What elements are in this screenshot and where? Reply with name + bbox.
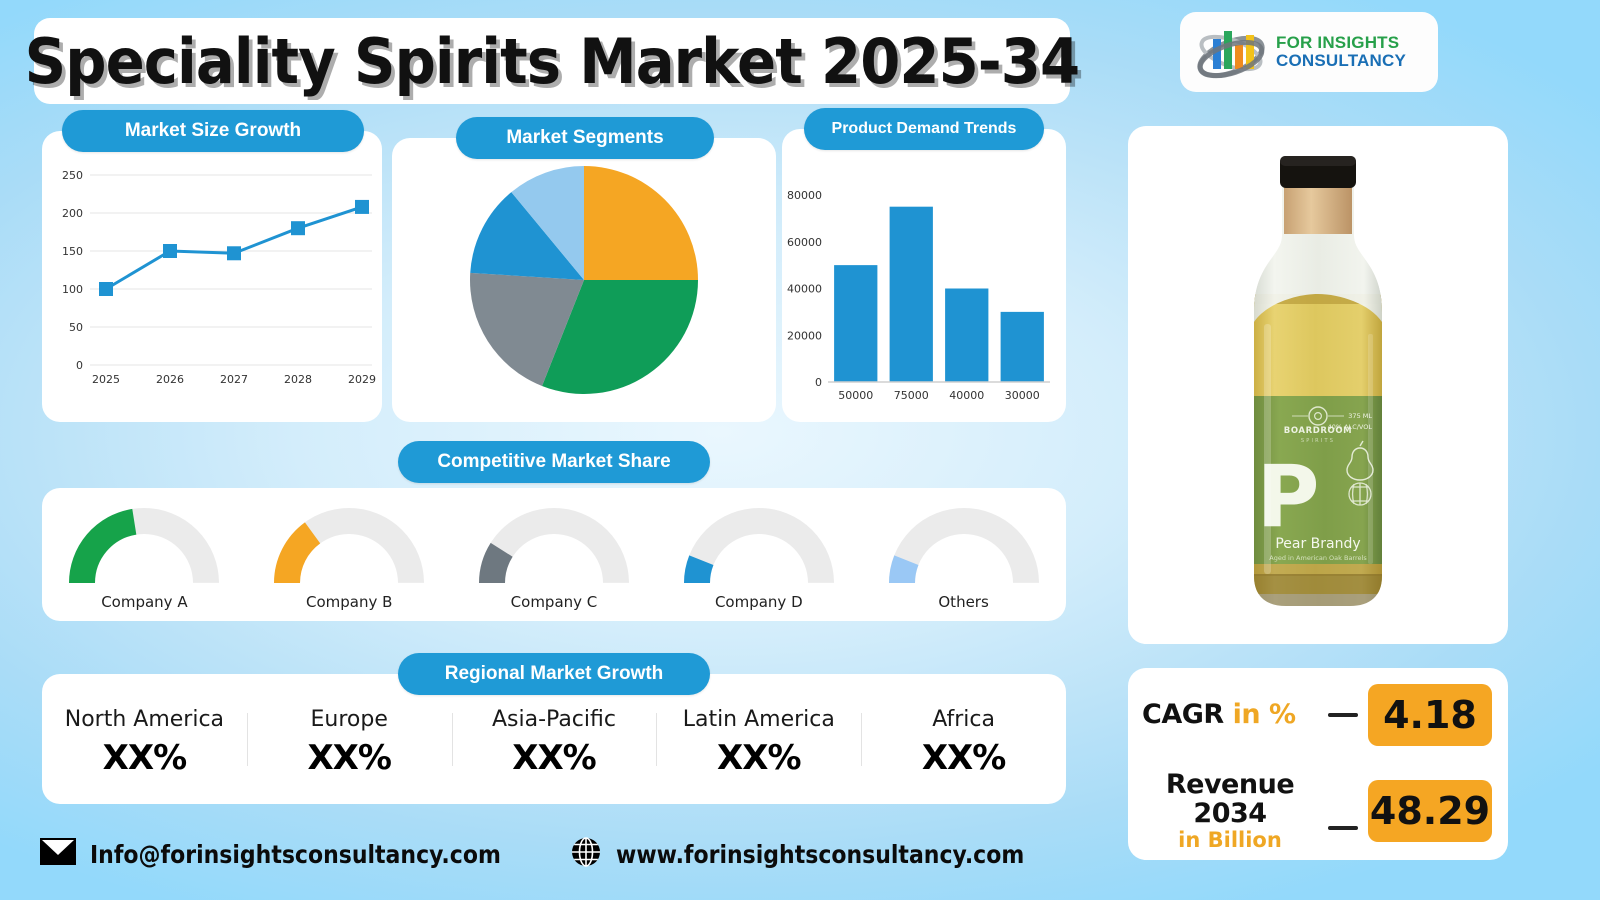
- website-text: www.forinsightsconsultancy.com: [616, 840, 1024, 869]
- svg-text:80000: 80000: [787, 189, 822, 202]
- envelope-icon: [40, 838, 76, 870]
- pie-chart-market-segments: [468, 164, 700, 396]
- company-logo: FOR INSIGHTS CONSULTANCY: [1180, 12, 1438, 92]
- globe-icon: [570, 836, 602, 873]
- svg-text:40% ALC/VOL: 40% ALC/VOL: [1328, 423, 1373, 431]
- gauge-arc: [880, 499, 1048, 591]
- svg-text:30000: 30000: [1005, 389, 1040, 402]
- card-competitive-market-share: Company ACompany BCompany CCompany DOthe…: [42, 488, 1066, 621]
- svg-text:Pear Brandy: Pear Brandy: [1275, 536, 1360, 552]
- card-product-demand-trends: 020000400006000080000 500007500040000300…: [782, 129, 1066, 422]
- svg-text:250: 250: [62, 169, 83, 182]
- gauge-label: Company B: [306, 593, 392, 611]
- region-cell: AfricaXX%: [861, 701, 1066, 778]
- bar-chart-orbit-icon: [1194, 23, 1268, 81]
- gauge-label: Company C: [511, 593, 598, 611]
- email-text: Info@forinsightsconsultancy.com: [90, 840, 501, 869]
- card-kpis: CAGR in % 4.18 Revenue 2034 in Billion 4…: [1128, 668, 1508, 860]
- infographic-page: Speciality Spirits Market 2025-34 FOR IN…: [0, 0, 1600, 900]
- region-cell: North AmericaXX%: [42, 701, 247, 778]
- region-name: Asia-Pacific: [452, 707, 657, 732]
- badge-product-demand-trends: Product Demand Trends: [804, 108, 1044, 150]
- contact-website[interactable]: www.forinsightsconsultancy.com: [570, 836, 1080, 873]
- svg-text:2026: 2026: [156, 373, 184, 386]
- page-title: Speciality Spirits Market 2025-34: [25, 25, 1079, 98]
- svg-text:60000: 60000: [787, 236, 822, 249]
- card-market-segments: [392, 138, 776, 422]
- kpi-cagr: CAGR in % 4.18: [1128, 672, 1508, 758]
- region-value: XX%: [247, 738, 452, 778]
- svg-text:2027: 2027: [220, 373, 248, 386]
- bar-chart-product-demand: 020000400006000080000 500007500040000300…: [782, 169, 1066, 419]
- line-chart-market-size: 050100150200250 20252026202720282029: [42, 161, 382, 411]
- kpi-revenue-value: 48.29: [1368, 780, 1492, 842]
- svg-text:40000: 40000: [787, 283, 822, 296]
- svg-text:20000: 20000: [787, 329, 822, 342]
- region-value: XX%: [452, 738, 657, 778]
- gauge-label: Company A: [101, 593, 187, 611]
- badge-market-size-growth: Market Size Growth: [62, 110, 364, 152]
- kpi-revenue: Revenue 2034 in Billion 48.29: [1128, 768, 1508, 854]
- gauge-others: Others: [869, 499, 1059, 611]
- logo-wordmark: FOR INSIGHTS CONSULTANCY: [1276, 34, 1406, 70]
- kpi-revenue-title: Revenue 2034: [1142, 770, 1318, 828]
- gauge-company-b: Company B: [254, 499, 444, 611]
- svg-text:2028: 2028: [284, 373, 312, 386]
- kpi-cagr-accent: in %: [1224, 699, 1296, 730]
- svg-text:150: 150: [62, 245, 83, 258]
- region-cell: Asia-PacificXX%: [452, 701, 657, 778]
- gauge-company-c: Company C: [459, 499, 649, 611]
- gauge-arc: [60, 499, 228, 591]
- contact-bar: Info@forinsightsconsultancy.com www.fori…: [40, 828, 1080, 880]
- logo-line-2: CONSULTANCY: [1276, 52, 1406, 70]
- badge-regional-market-growth: Regional Market Growth: [398, 653, 710, 695]
- svg-text:2025: 2025: [92, 373, 120, 386]
- gauge-label: Company D: [715, 593, 803, 611]
- svg-text:75000: 75000: [894, 389, 929, 402]
- region-name: Latin America: [656, 707, 861, 732]
- kpi-cagr-value: 4.18: [1368, 684, 1492, 746]
- contact-email[interactable]: Info@forinsightsconsultancy.com: [40, 838, 570, 870]
- region-name: Africa: [861, 707, 1066, 732]
- kpi-revenue-label: Revenue 2034 in Billion: [1142, 770, 1318, 852]
- region-value: XX%: [861, 738, 1066, 778]
- card-market-size-growth: 050100150200250 20252026202720282029: [42, 131, 382, 422]
- svg-text:50000: 50000: [838, 389, 873, 402]
- region-value: XX%: [42, 738, 247, 778]
- gauge-arc: [675, 499, 843, 591]
- kpi-revenue-dash: [1328, 826, 1358, 830]
- svg-text:Aged in American Oak Barrels: Aged in American Oak Barrels: [1269, 554, 1367, 562]
- svg-text:50: 50: [69, 321, 83, 334]
- region-name: Europe: [247, 707, 452, 732]
- logo-line-1: FOR INSIGHTS: [1276, 34, 1406, 52]
- gauge-row: Company ACompany BCompany CCompany DOthe…: [42, 488, 1066, 621]
- badge-competitive-market-share: Competitive Market Share: [398, 441, 710, 483]
- gauge-label: Others: [938, 593, 988, 611]
- svg-text:40000: 40000: [949, 389, 984, 402]
- svg-text:100: 100: [62, 283, 83, 296]
- gauge-arc: [470, 499, 638, 591]
- gauge-company-a: Company A: [49, 499, 239, 611]
- svg-text:SPIRITS: SPIRITS: [1301, 438, 1335, 444]
- kpi-cagr-label: CAGR in %: [1142, 700, 1318, 729]
- pear-brandy-bottle-image: BOARDROOM SPIRITS 375 ML 40% ALC/VOL P P…: [1220, 144, 1416, 624]
- title-plate: Speciality Spirits Market 2025-34: [34, 18, 1070, 104]
- badge-market-segments: Market Segments: [456, 117, 714, 159]
- kpi-revenue-sub: in Billion: [1142, 828, 1318, 852]
- card-product-image: BOARDROOM SPIRITS 375 ML 40% ALC/VOL P P…: [1128, 126, 1508, 644]
- region-cell: EuropeXX%: [247, 701, 452, 778]
- kpi-cagr-dash: [1328, 713, 1358, 717]
- svg-text:0: 0: [815, 376, 822, 389]
- region-name: North America: [42, 707, 247, 732]
- svg-text:2029: 2029: [348, 373, 376, 386]
- svg-text:0: 0: [76, 359, 83, 372]
- gauge-arc: [265, 499, 433, 591]
- region-value: XX%: [656, 738, 861, 778]
- region-cell: Latin AmericaXX%: [656, 701, 861, 778]
- svg-text:200: 200: [62, 207, 83, 220]
- gauge-company-d: Company D: [664, 499, 854, 611]
- kpi-cagr-title: CAGR: [1142, 699, 1224, 730]
